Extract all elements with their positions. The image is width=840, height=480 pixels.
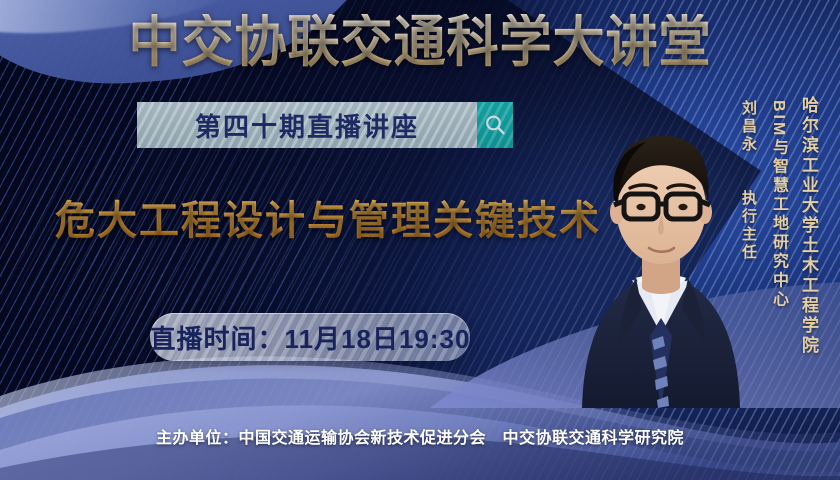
speaker-organization: 哈尔滨工业大学土木工程学院 — [796, 96, 821, 356]
search-icon — [484, 114, 506, 136]
lecture-topic: 危大工程设计与管理关键技术 — [55, 188, 601, 246]
organizer-footer: 主办单位：中国交通运输协会新技术促进分会 中交协联交通科学研究院 — [0, 424, 840, 448]
speaker-role: 执行主任 — [738, 190, 759, 262]
livestream-poster: 中交协联交通科学大讲堂 第四十期直播讲座 危大工程设计与管理关键技术 直播时间：… — [0, 0, 840, 480]
speaker-center-prefix: BIM — [770, 100, 787, 138]
broadcast-time-badge: 直播时间：11月18日19:30 — [150, 313, 470, 361]
episode-label: 第四十期直播讲座 — [195, 107, 419, 144]
speaker-center-suffix: 与智慧工地研究中心 — [770, 138, 787, 309]
search-icon-box[interactable] — [477, 102, 513, 148]
page-title: 中交协联交通科学大讲堂 — [29, 14, 810, 70]
broadcast-time-text: 直播时间：11月18日19:30 — [150, 319, 470, 356]
episode-banner: 第四十期直播讲座 — [137, 102, 477, 148]
speaker-name: 刘昌永 — [738, 100, 759, 154]
speaker-research-center: BIM与智慧工地研究中心 — [766, 100, 791, 309]
